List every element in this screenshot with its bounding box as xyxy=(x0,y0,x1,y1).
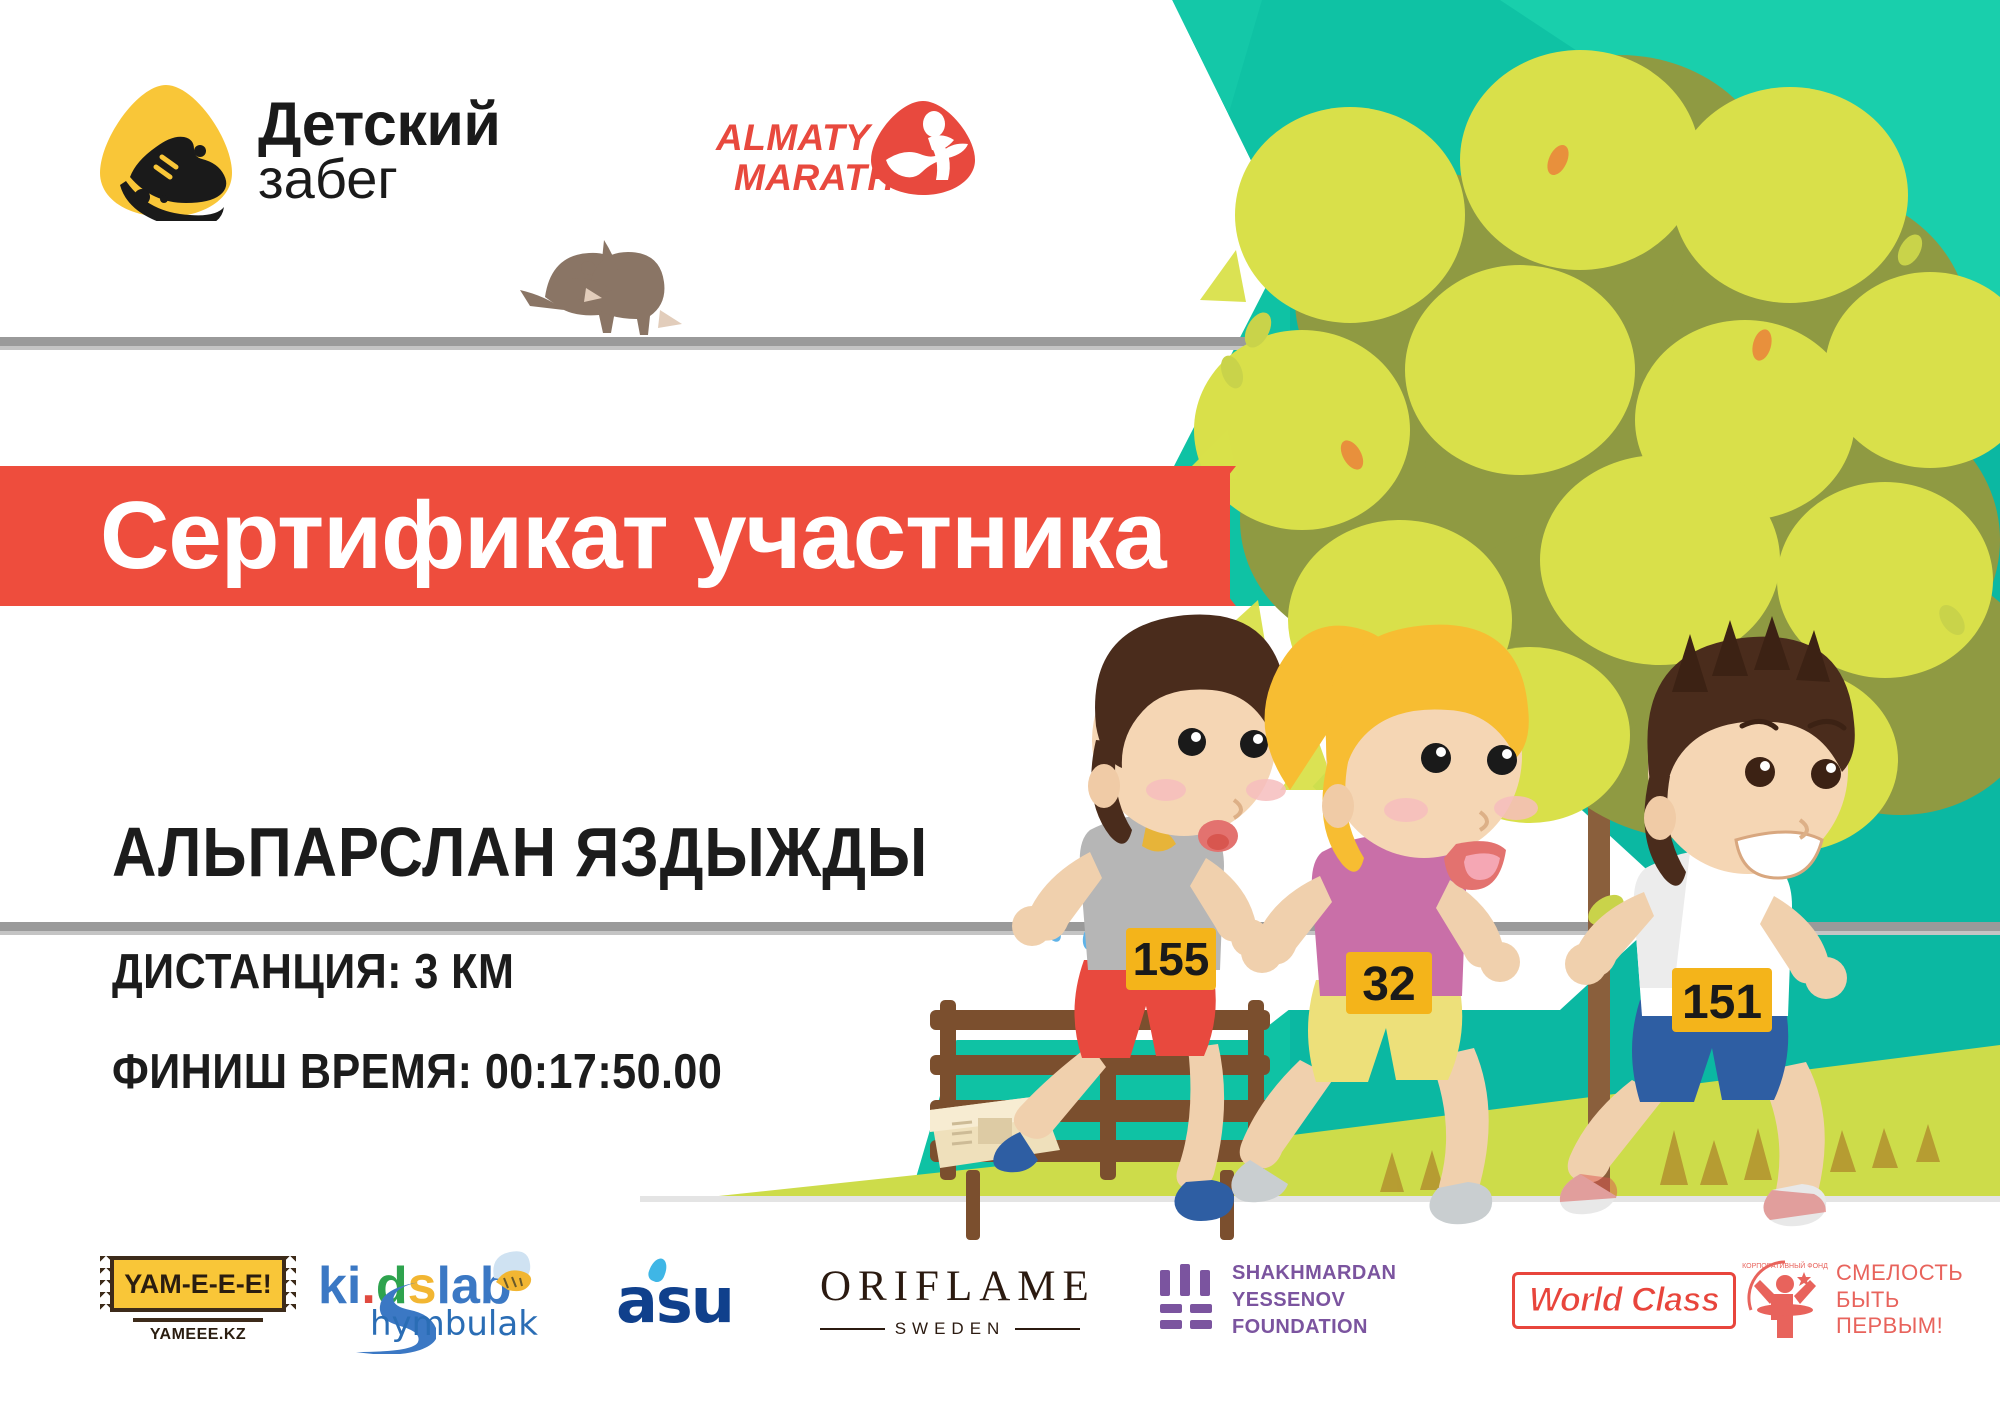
yameee-logo: YAM-E-E-E! xyxy=(110,1256,286,1312)
oriflame-rule-left xyxy=(820,1328,885,1330)
asu-label: asu xyxy=(616,1264,733,1337)
oriflame-rule-right xyxy=(1015,1328,1080,1330)
participant-details: АЛЬПАРСЛАН ЯЗДЫЖДЫ ДИСТАНЦИЯ: 3 КМ ФИНИШ… xyxy=(112,812,1012,1144)
participant-finish-time: ФИНИШ ВРЕМЯ: 00:17:50.00 xyxy=(112,1044,904,1100)
title-band-notch xyxy=(1180,466,1236,606)
smelost-wordmark: СМЕЛОСТЬ БЫТЬ ПЕРВЫМ! xyxy=(1836,1260,1963,1340)
world-class-wordmark: World Class xyxy=(1529,1281,1719,1320)
yameee-rule xyxy=(133,1318,263,1322)
detsky-zabeg-wordmark: Детский забег xyxy=(258,96,500,206)
smelost-line3: ПЕРВЫМ! xyxy=(1836,1313,1963,1340)
sponsor-asu: asu xyxy=(616,1245,756,1355)
yessenov-bars-icon xyxy=(1158,1264,1214,1336)
kidslab-logo: ki.dslab hymbulak xyxy=(318,1248,548,1352)
running-shoe-icon xyxy=(96,81,236,221)
detsky-line1: Детский xyxy=(258,96,500,153)
smelost-arc-text: КОРПОРАТИВНЫЙ ФОНД xyxy=(1742,1261,1828,1270)
sponsor-kidslab-shymbulak: ki.dslab hymbulak xyxy=(318,1245,558,1355)
runner-32: 32 xyxy=(1231,625,1538,1225)
yessenov-wordmark: SHAKHMARDAN YESSENOV FOUNDATION xyxy=(1232,1260,1488,1341)
smelost-line1: СМЕЛОСТЬ xyxy=(1836,1260,1963,1287)
participant-name: АЛЬПАРСЛАН ЯЗДЫЖДЫ xyxy=(112,812,904,892)
detsky-zabeg-logo: Детский забег xyxy=(96,78,526,223)
sponsor-strip: YAM-E-E-E! YAMEEE.KZ ki.dslab xyxy=(0,1245,2000,1365)
kidslab-shymbulak-label: hymbulak xyxy=(370,1304,538,1344)
smelost-figure-icon: КОРПОРАТИВНЫЙ ФОНД xyxy=(1742,1254,1828,1346)
bib-number-155: 155 xyxy=(1133,933,1210,985)
bib-number-32: 32 xyxy=(1362,958,1415,1011)
almaty-marathon-logo: ALMATY MARATHON xyxy=(716,98,996,218)
kidslab-letter-k: k xyxy=(318,1257,347,1315)
runner-icon xyxy=(868,98,978,198)
oriflame-sweden-label: SWEDEN xyxy=(895,1319,1006,1339)
certificate-title-ribbon: Сертификат участника xyxy=(0,466,1264,606)
bib-number-151: 151 xyxy=(1682,976,1762,1029)
oriflame-wordmark: ORIFLAME xyxy=(820,1262,1096,1311)
yameee-url: YAMEEE.KZ xyxy=(150,1326,246,1344)
smelost-line2: БЫТЬ xyxy=(1836,1287,1963,1314)
runner-151: 151 xyxy=(1560,616,1855,1226)
certificate-canvas: 155 xyxy=(0,0,2000,1413)
oriflame-sweden-row: SWEDEN xyxy=(820,1319,1080,1339)
world-class-logo: World Class xyxy=(1512,1272,1736,1329)
sponsor-yameee: YAM-E-E-E! YAMEEE.KZ xyxy=(98,1245,298,1355)
runner-155: 155 xyxy=(993,615,1286,1221)
sponsor-world-class: World Class xyxy=(1512,1245,1702,1355)
yessenov-line2: FOUNDATION xyxy=(1232,1314,1488,1341)
sponsor-yessenov-foundation: SHAKHMARDAN YESSENOV FOUNDATION xyxy=(1158,1245,1488,1355)
yessenov-line1: SHAKHMARDAN YESSENOV xyxy=(1232,1260,1488,1314)
detsky-line2: забег xyxy=(258,153,500,206)
kidslab-bee-leaf-icon xyxy=(486,1248,532,1294)
page-title: Сертификат участника xyxy=(100,466,1166,606)
asu-wordmark: asu xyxy=(616,1264,733,1337)
participant-distance: ДИСТАНЦИЯ: 3 КМ xyxy=(112,944,904,1000)
sponsor-smelost-byt-pervym: КОРПОРАТИВНЫЙ ФОНД СМЕЛОСТЬ БЫТЬ ПЕРВЫМ! xyxy=(1742,1245,1972,1355)
sponsor-oriflame: ORIFLAME SWEDEN xyxy=(820,1245,1100,1355)
